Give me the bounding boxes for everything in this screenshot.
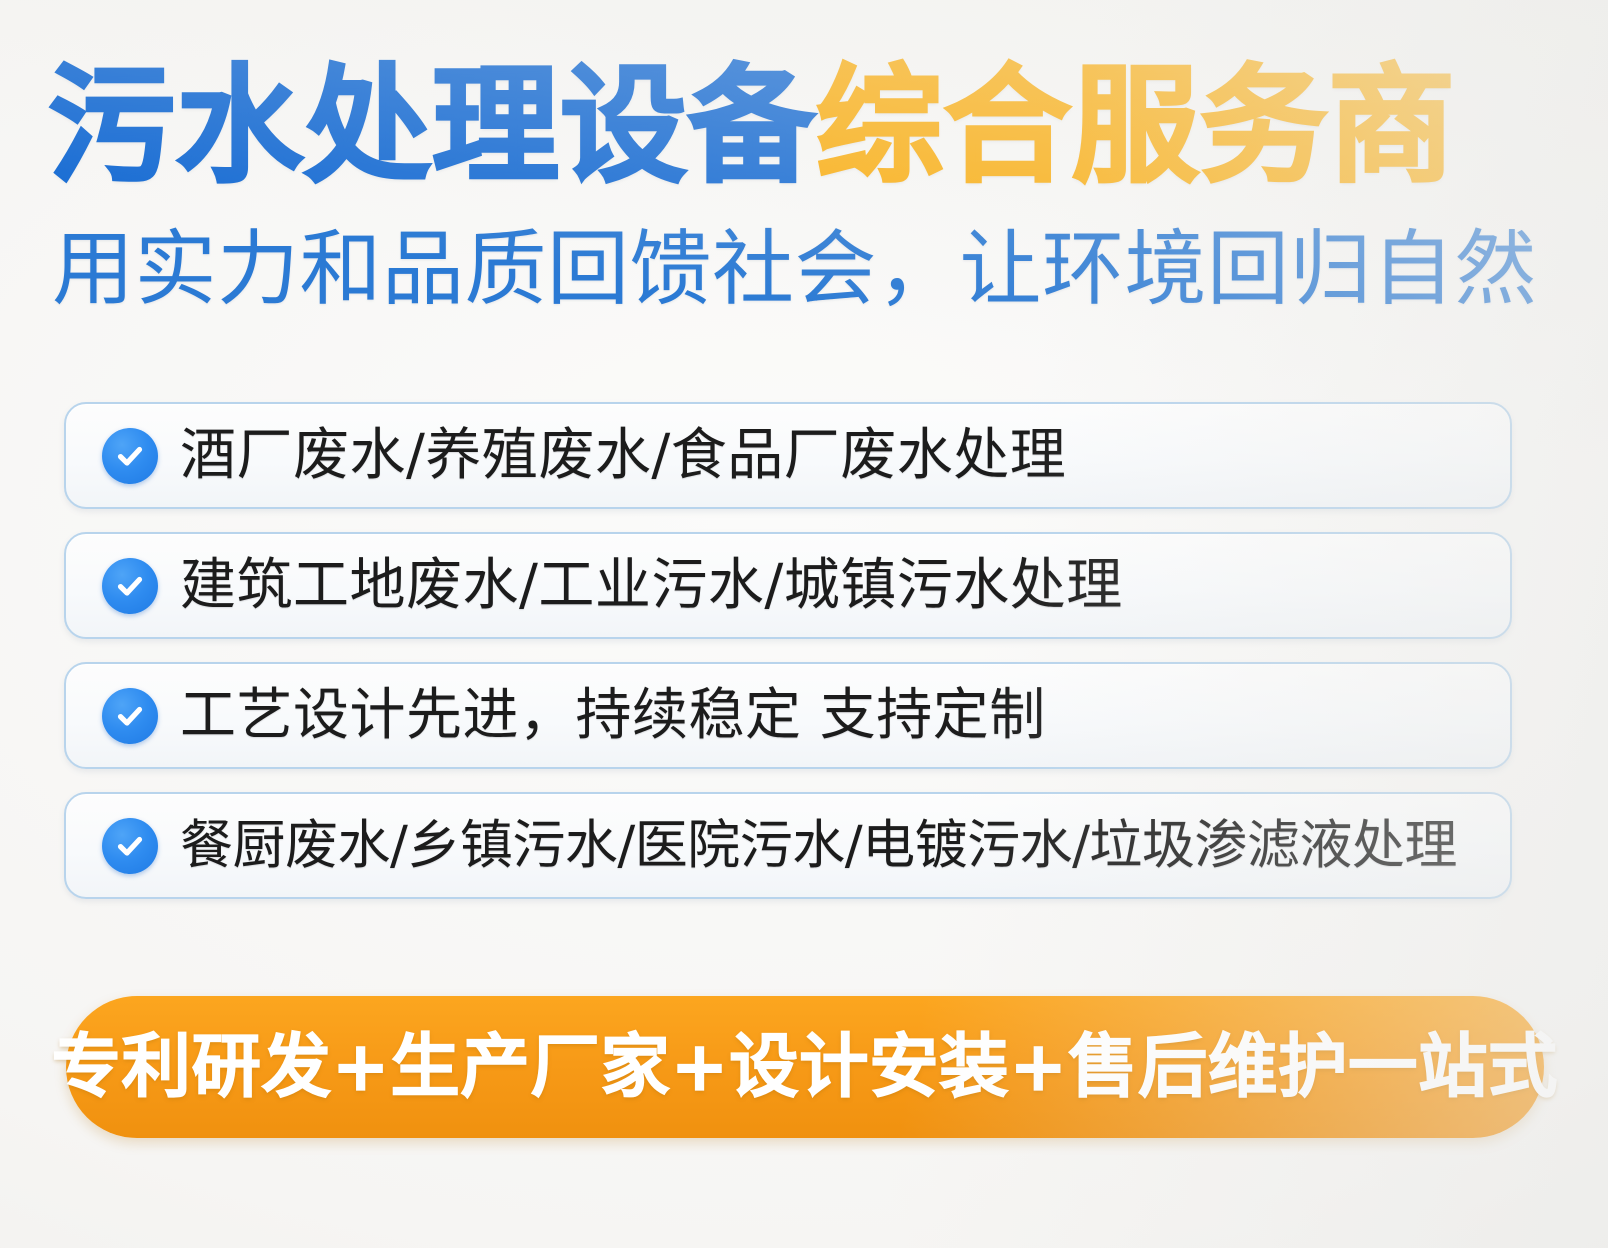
check-circle-icon: [102, 818, 158, 874]
cta-banner-label: 专利研发+生产厂家+设计安装+售后维护一站式: [52, 1033, 1558, 1102]
page-subtitle: 用实力和品质回馈社会，让环境回归自然: [52, 222, 1572, 318]
feature-item-4[interactable]: 餐厨废水/乡镇污水/医院污水/电镀污水/垃圾渗滤液处理: [64, 792, 1512, 899]
feature-list: 酒厂废水/养殖废水/食品厂废水处理 建筑工地废水/工业污水/城镇污水处理 工艺设…: [64, 402, 1512, 899]
feature-item-label: 工艺设计先进，持续稳定 支持定制: [180, 688, 1046, 744]
headline-orange-text: 综合服务商: [816, 63, 1456, 190]
cta-banner[interactable]: 专利研发+生产厂家+设计安装+售后维护一站式: [66, 996, 1544, 1138]
promo-poster: 污水处理设备综合服务商 用实力和品质回馈社会，让环境回归自然 酒厂废水/养殖废水…: [0, 0, 1608, 1248]
feature-item-label: 建筑工地废水/工业污水/城镇污水处理: [180, 558, 1123, 614]
feature-item-label: 餐厨废水/乡镇污水/医院污水/电镀污水/垃圾渗滤液处理: [180, 819, 1457, 872]
feature-item-3[interactable]: 工艺设计先进，持续稳定 支持定制: [64, 662, 1512, 769]
check-circle-icon: [102, 428, 158, 484]
feature-item-2[interactable]: 建筑工地废水/工业污水/城镇污水处理: [64, 532, 1512, 639]
check-circle-icon: [102, 558, 158, 614]
feature-item-1[interactable]: 酒厂废水/养殖废水/食品厂废水处理: [64, 402, 1512, 509]
feature-item-label: 酒厂废水/养殖废水/食品厂废水处理: [180, 428, 1066, 484]
check-circle-icon: [102, 688, 158, 744]
page-title: 污水处理设备综合服务商: [48, 52, 1568, 200]
headline-blue-text: 污水处理设备: [48, 63, 816, 190]
